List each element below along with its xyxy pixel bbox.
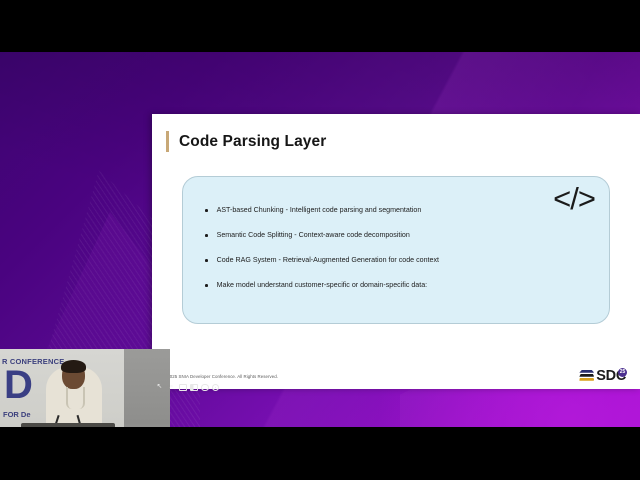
list-item: Code RAG System - Retrieval-Augmented Ge… — [205, 256, 525, 265]
slide-title-row: Code Parsing Layer — [166, 131, 326, 152]
bullet-text: AST-based Chunking - Intelligent code pa… — [217, 206, 422, 215]
list-item: AST-based Chunking - Intelligent code pa… — [205, 206, 525, 215]
bullet-dot-icon — [205, 234, 208, 237]
letterbox-bottom — [0, 427, 640, 480]
screenshot-icon[interactable] — [179, 384, 187, 391]
bullet-text: Code RAG System - Retrieval-Augmented Ge… — [217, 256, 439, 265]
code-brackets-icon: </> — [553, 183, 595, 214]
settings-icon[interactable] — [212, 384, 220, 392]
backdrop-sub-text: FOR De — [3, 410, 31, 419]
presentation-slide: Code Parsing Layer </> AST-based Chunkin… — [152, 114, 640, 389]
page-title: Code Parsing Layer — [179, 133, 326, 151]
sdc-year-badge: 25 — [618, 368, 627, 377]
search-icon[interactable]: ⌕ — [167, 383, 176, 392]
backdrop-big-letter: D — [4, 366, 33, 404]
bullet-list: AST-based Chunking - Intelligent code pa… — [205, 206, 525, 306]
content-card: </> AST-based Chunking - Intelligent cod… — [182, 176, 610, 324]
pointer-icon[interactable]: ↖ — [155, 383, 164, 392]
sdc-layers-icon — [579, 369, 594, 383]
title-accent-bar — [166, 131, 169, 152]
letterbox-top — [0, 0, 640, 52]
bullet-dot-icon — [205, 259, 208, 262]
bullet-text: Make model understand customer-specific … — [217, 281, 428, 290]
slide-footer-copyright: ©2025 SNIA Developer Conference. All Rig… — [164, 374, 278, 379]
speaker-video-inset[interactable]: R CONFERENCE D FOR De SNIA SDC DEVELOPER… — [0, 349, 170, 427]
bullet-dot-icon — [205, 284, 208, 287]
speaker-lanyard — [66, 387, 85, 409]
list-item: Semantic Code Splitting - Context-aware … — [205, 231, 525, 240]
speaker-hair — [61, 360, 86, 373]
layout-icon[interactable] — [190, 384, 198, 391]
bullet-text: Semantic Code Splitting - Context-aware … — [217, 231, 410, 240]
sdc-logo: SDC 25 — [579, 369, 627, 384]
list-item: Make model understand customer-specific … — [205, 281, 525, 290]
screen: Code Parsing Layer </> AST-based Chunkin… — [0, 0, 640, 480]
video-frame: Code Parsing Layer </> AST-based Chunkin… — [0, 52, 640, 427]
cc-icon[interactable] — [201, 384, 209, 392]
player-controls-overlay[interactable]: ↖ ⌕ — [155, 383, 219, 392]
bullet-dot-icon — [205, 209, 208, 212]
